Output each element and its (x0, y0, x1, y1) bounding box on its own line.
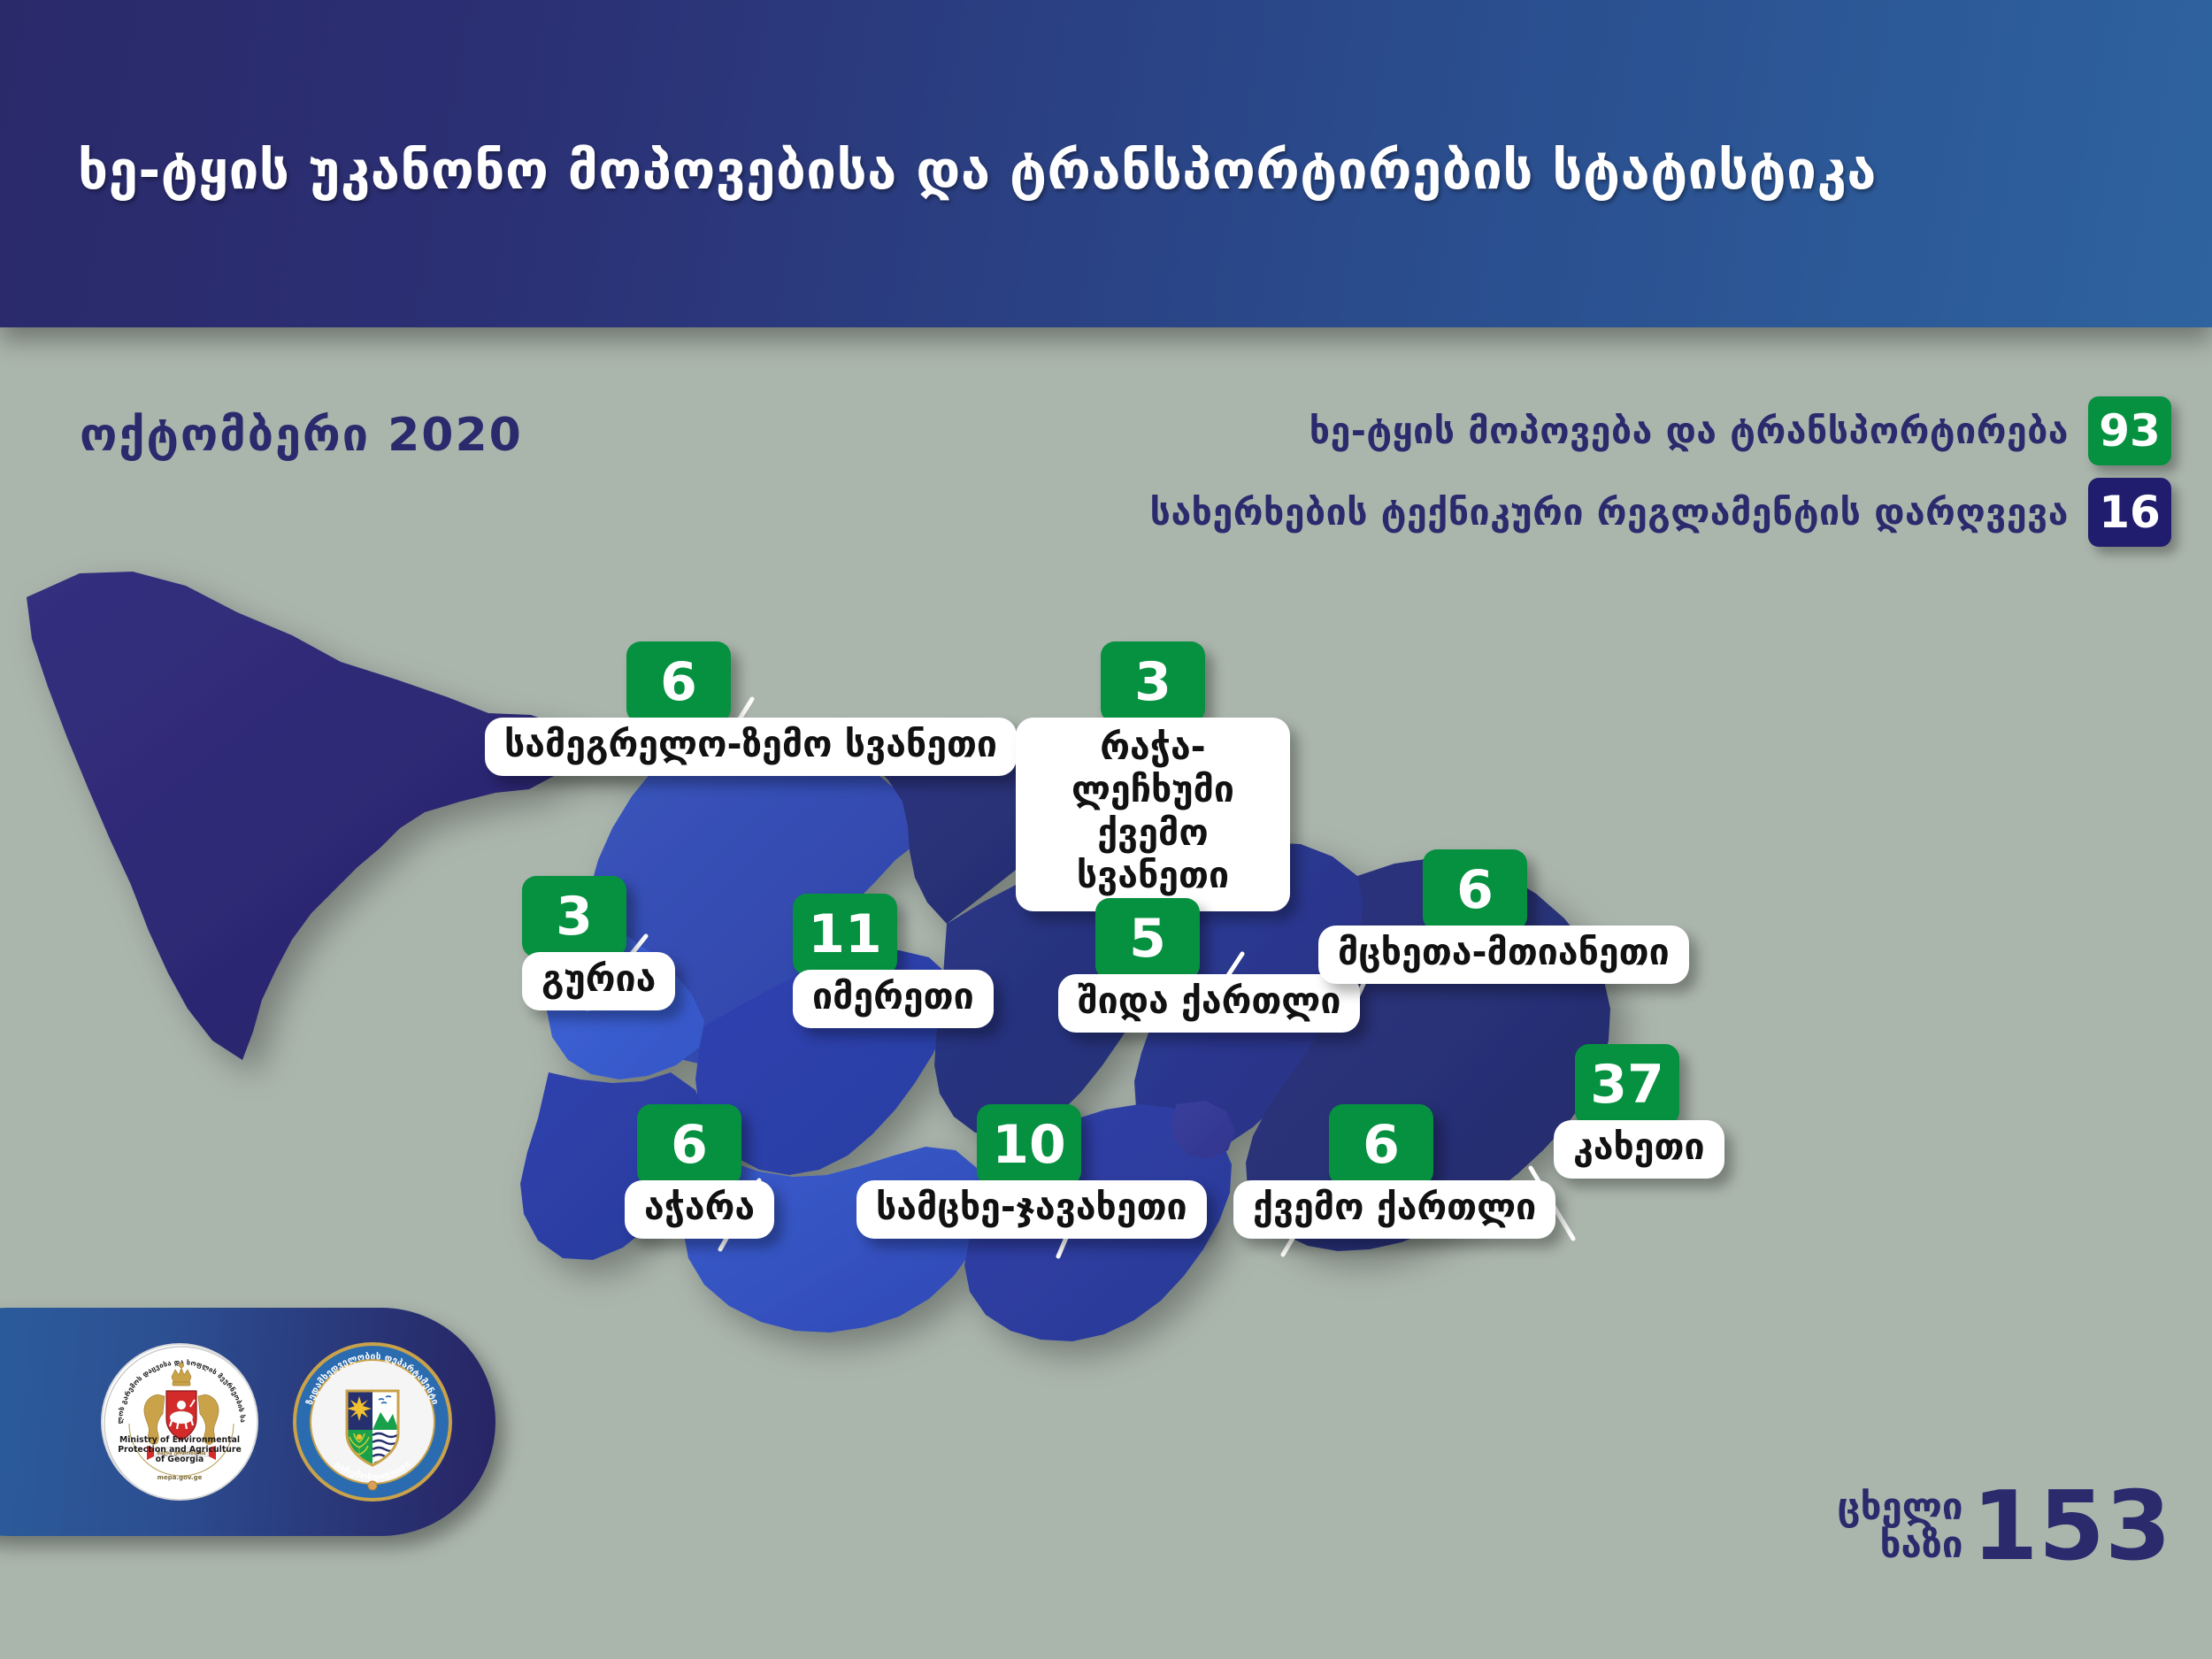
marker-value-samegrelo: 6 (626, 641, 731, 723)
logo-pill: საქართველოს გარემოს დაცვისა და სოფლის მე… (0, 1308, 495, 1536)
marker-guria[interactable]: 3 გურია (522, 876, 675, 1010)
marker-value-samtskhe: 10 (977, 1104, 1081, 1186)
marker-label-imereti: იმერეთი (793, 970, 994, 1028)
hotline-label-line1: ცხელი (1837, 1488, 1962, 1526)
marker-shida[interactable]: 5 შიდა ქართლი (1058, 898, 1360, 1033)
marker-label-samtskhe: სამცხე-ჯავახეთი (856, 1180, 1207, 1239)
marker-label-samegrelo: სამეგრელო-ზემო სვანეთი (485, 718, 1017, 776)
ministry-seal: საქართველოს გარემოს დაცვისა და სოფლის მე… (101, 1343, 258, 1501)
marker-imereti[interactable]: 11 იმერეთი (793, 894, 994, 1028)
marker-label-kvemo: ქვემო ქართლი (1233, 1180, 1555, 1239)
legend-value-sawmill: 16 (2088, 478, 2171, 547)
marker-value-imereti: 11 (793, 894, 897, 975)
marker-value-adjara: 6 (637, 1104, 741, 1186)
marker-label-shida: შიდა ქართლი (1058, 974, 1360, 1033)
marker-label-mtskheta: მცხეთა-მთიანეთი (1318, 926, 1689, 984)
marker-samegrelo[interactable]: 6 სამეგრელო-ზემო სვანეთი (485, 641, 1017, 776)
hotline-label-line2: ხაზი (1837, 1526, 1962, 1564)
marker-value-mtskheta: 6 (1423, 849, 1527, 931)
department-seal: ზედამხედველობის დეპარტამენტი გარემოსდაცვ… (292, 1341, 453, 1502)
legend-label-collection: ხე-ტყის მოპოვება და ტრანსპორტირება (1310, 410, 2069, 452)
page-title: ხე-ტყის უკანონო მოპოვებისა და ტრანსპორტი… (78, 140, 1877, 202)
marker-value-shida: 5 (1095, 898, 1200, 979)
ministry-seal-url: mepa.gov.ge (103, 1474, 257, 1481)
legend: ხე-ტყის მოპოვება და ტრანსპორტირება 93 სა… (1150, 396, 2171, 559)
marker-kvemo[interactable]: 6 ქვემო ქართლი (1233, 1104, 1555, 1239)
marker-value-kvemo: 6 (1329, 1104, 1433, 1186)
marker-value-kakheti: 37 (1575, 1044, 1679, 1125)
marker-mtskheta[interactable]: 6 მცხეთა-მთიანეთი (1318, 849, 1689, 984)
hotline-number: 153 (1972, 1483, 2171, 1571)
marker-label-adjara: აჭარა (625, 1180, 774, 1239)
legend-value-collection: 93 (2088, 396, 2171, 465)
marker-label-guria: გურია (522, 952, 675, 1010)
department-seal-graphic: ზედამხედველობის დეპარტამენტი გარემოსდაცვ… (292, 1341, 453, 1502)
legend-row-sawmill: სახერხების ტექნიკური რეგლამენტის დარღვევ… (1150, 478, 2171, 547)
page-header: ხე-ტყის უკანონო მოპოვებისა და ტრანსპორტი… (0, 0, 2212, 327)
marker-racha[interactable]: 3 რაჭა-ლეჩხუმიქვემო სვანეთი (1016, 641, 1290, 911)
marker-value-guria: 3 (522, 876, 626, 957)
legend-label-sawmill: სახერხების ტექნიკური რეგლამენტის დარღვევ… (1150, 491, 2069, 534)
period-label: ოქტომბერი 2020 (80, 409, 523, 462)
marker-adjara[interactable]: 6 აჭარა (625, 1104, 774, 1239)
marker-samtskhe[interactable]: 10 სამცხე-ჯავახეთი (856, 1104, 1207, 1239)
marker-label-racha: რაჭა-ლეჩხუმიქვემო სვანეთი (1016, 718, 1290, 911)
marker-value-racha: 3 (1101, 641, 1205, 723)
ministry-seal-text: Ministry of Environmental Protection and… (103, 1436, 257, 1465)
marker-label-kakheti: კახეთი (1554, 1120, 1724, 1179)
hotline: ცხელი ხაზი 153 (1837, 1483, 2171, 1571)
legend-row-collection: ხე-ტყის მოპოვება და ტრანსპორტირება 93 (1150, 396, 2171, 465)
marker-kakheti[interactable]: 37 კახეთი (1554, 1044, 1724, 1179)
